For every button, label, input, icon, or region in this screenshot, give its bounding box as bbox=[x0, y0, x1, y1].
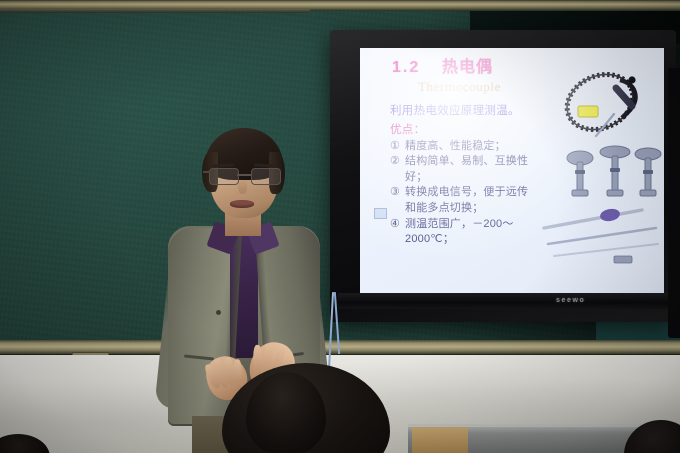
thermocouple-rod-probes-image bbox=[538, 198, 664, 270]
classroom-photo: 1.2 热电偶 Thermocouple 利用热电效应原理测温。 优点： ① 精… bbox=[0, 0, 680, 453]
coiled-thermocouple-image bbox=[552, 58, 660, 144]
glasses-lens-left bbox=[209, 168, 239, 185]
presenter-mouth bbox=[230, 200, 254, 208]
finger bbox=[233, 359, 241, 383]
display-bottom-bezel bbox=[338, 293, 668, 309]
display-brand-logo: seewo bbox=[556, 297, 585, 304]
display-screen[interactable]: 1.2 热电偶 Thermocouple 利用热电效应原理测温。 优点： ① 精… bbox=[360, 48, 664, 293]
bullet-marker: ① bbox=[390, 139, 405, 155]
thermocouple-sensor-heads-image bbox=[560, 140, 664, 202]
bullet-marker: ④ bbox=[390, 217, 405, 248]
glasses-bridge bbox=[237, 174, 251, 176]
bullet-line-1: 结构简单、易制、互换性 bbox=[405, 155, 528, 167]
bullet-line-1: 测温范围广，－200～ bbox=[405, 218, 514, 230]
slide-title-text: 热电偶 bbox=[442, 59, 493, 76]
glasses-lens-right bbox=[251, 168, 281, 185]
toolbar-collapse-handle[interactable] bbox=[374, 208, 387, 219]
slide-title-number: 1.2 bbox=[392, 59, 420, 76]
display-bezel bbox=[668, 68, 680, 338]
bullet-marker: ② bbox=[390, 154, 405, 185]
presenter-jacket-button bbox=[216, 310, 221, 315]
bullet-line-1: 转换成电信号，便于远传 bbox=[405, 186, 528, 198]
presenter-nose bbox=[238, 178, 247, 194]
desk-wood-panel bbox=[412, 427, 468, 453]
finger bbox=[253, 345, 263, 375]
bullet-marker: ③ bbox=[390, 185, 405, 216]
blackboard-top-frame-accent bbox=[0, 9, 310, 13]
glasses-temple bbox=[203, 171, 210, 173]
presentation-slide: 1.2 热电偶 Thermocouple 利用热电效应原理测温。 优点： ① 精… bbox=[360, 48, 664, 293]
